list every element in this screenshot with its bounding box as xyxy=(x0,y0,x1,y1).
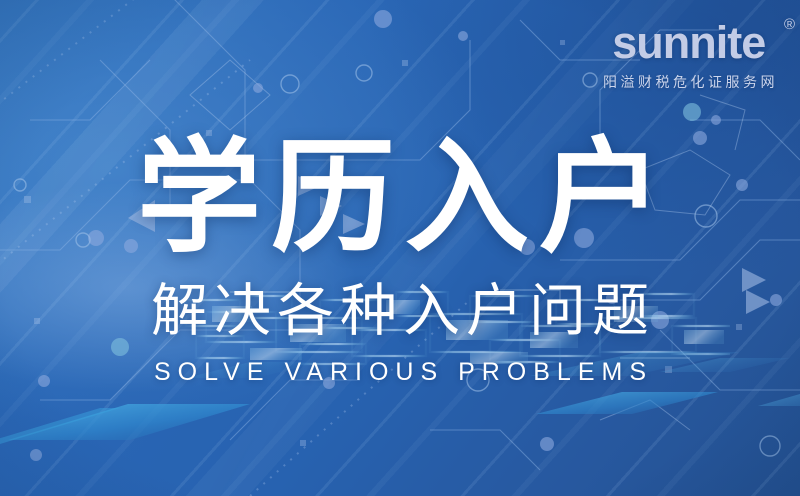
page-subtitle: 解决各种入户问题 xyxy=(145,282,655,342)
page-title: 学历入户 xyxy=(127,136,673,260)
registered-trademark-icon: ® xyxy=(784,17,795,32)
page-tagline-english: SOLVE VARIOUS PROBLEMS xyxy=(147,358,653,387)
promo-banner: sunnite ® 阳溢财税危化证服务网 学历入户 解决各种入户问题 SOLVE… xyxy=(0,0,800,496)
logo-wordmark-text: sunnite xyxy=(612,17,765,68)
brand-logo[interactable]: sunnite ® 阳溢财税危化证服务网 xyxy=(600,20,779,92)
logo-tagline: 阳溢财税危化证服务网 xyxy=(600,72,779,92)
logo-wordmark: sunnite ® xyxy=(600,20,779,65)
